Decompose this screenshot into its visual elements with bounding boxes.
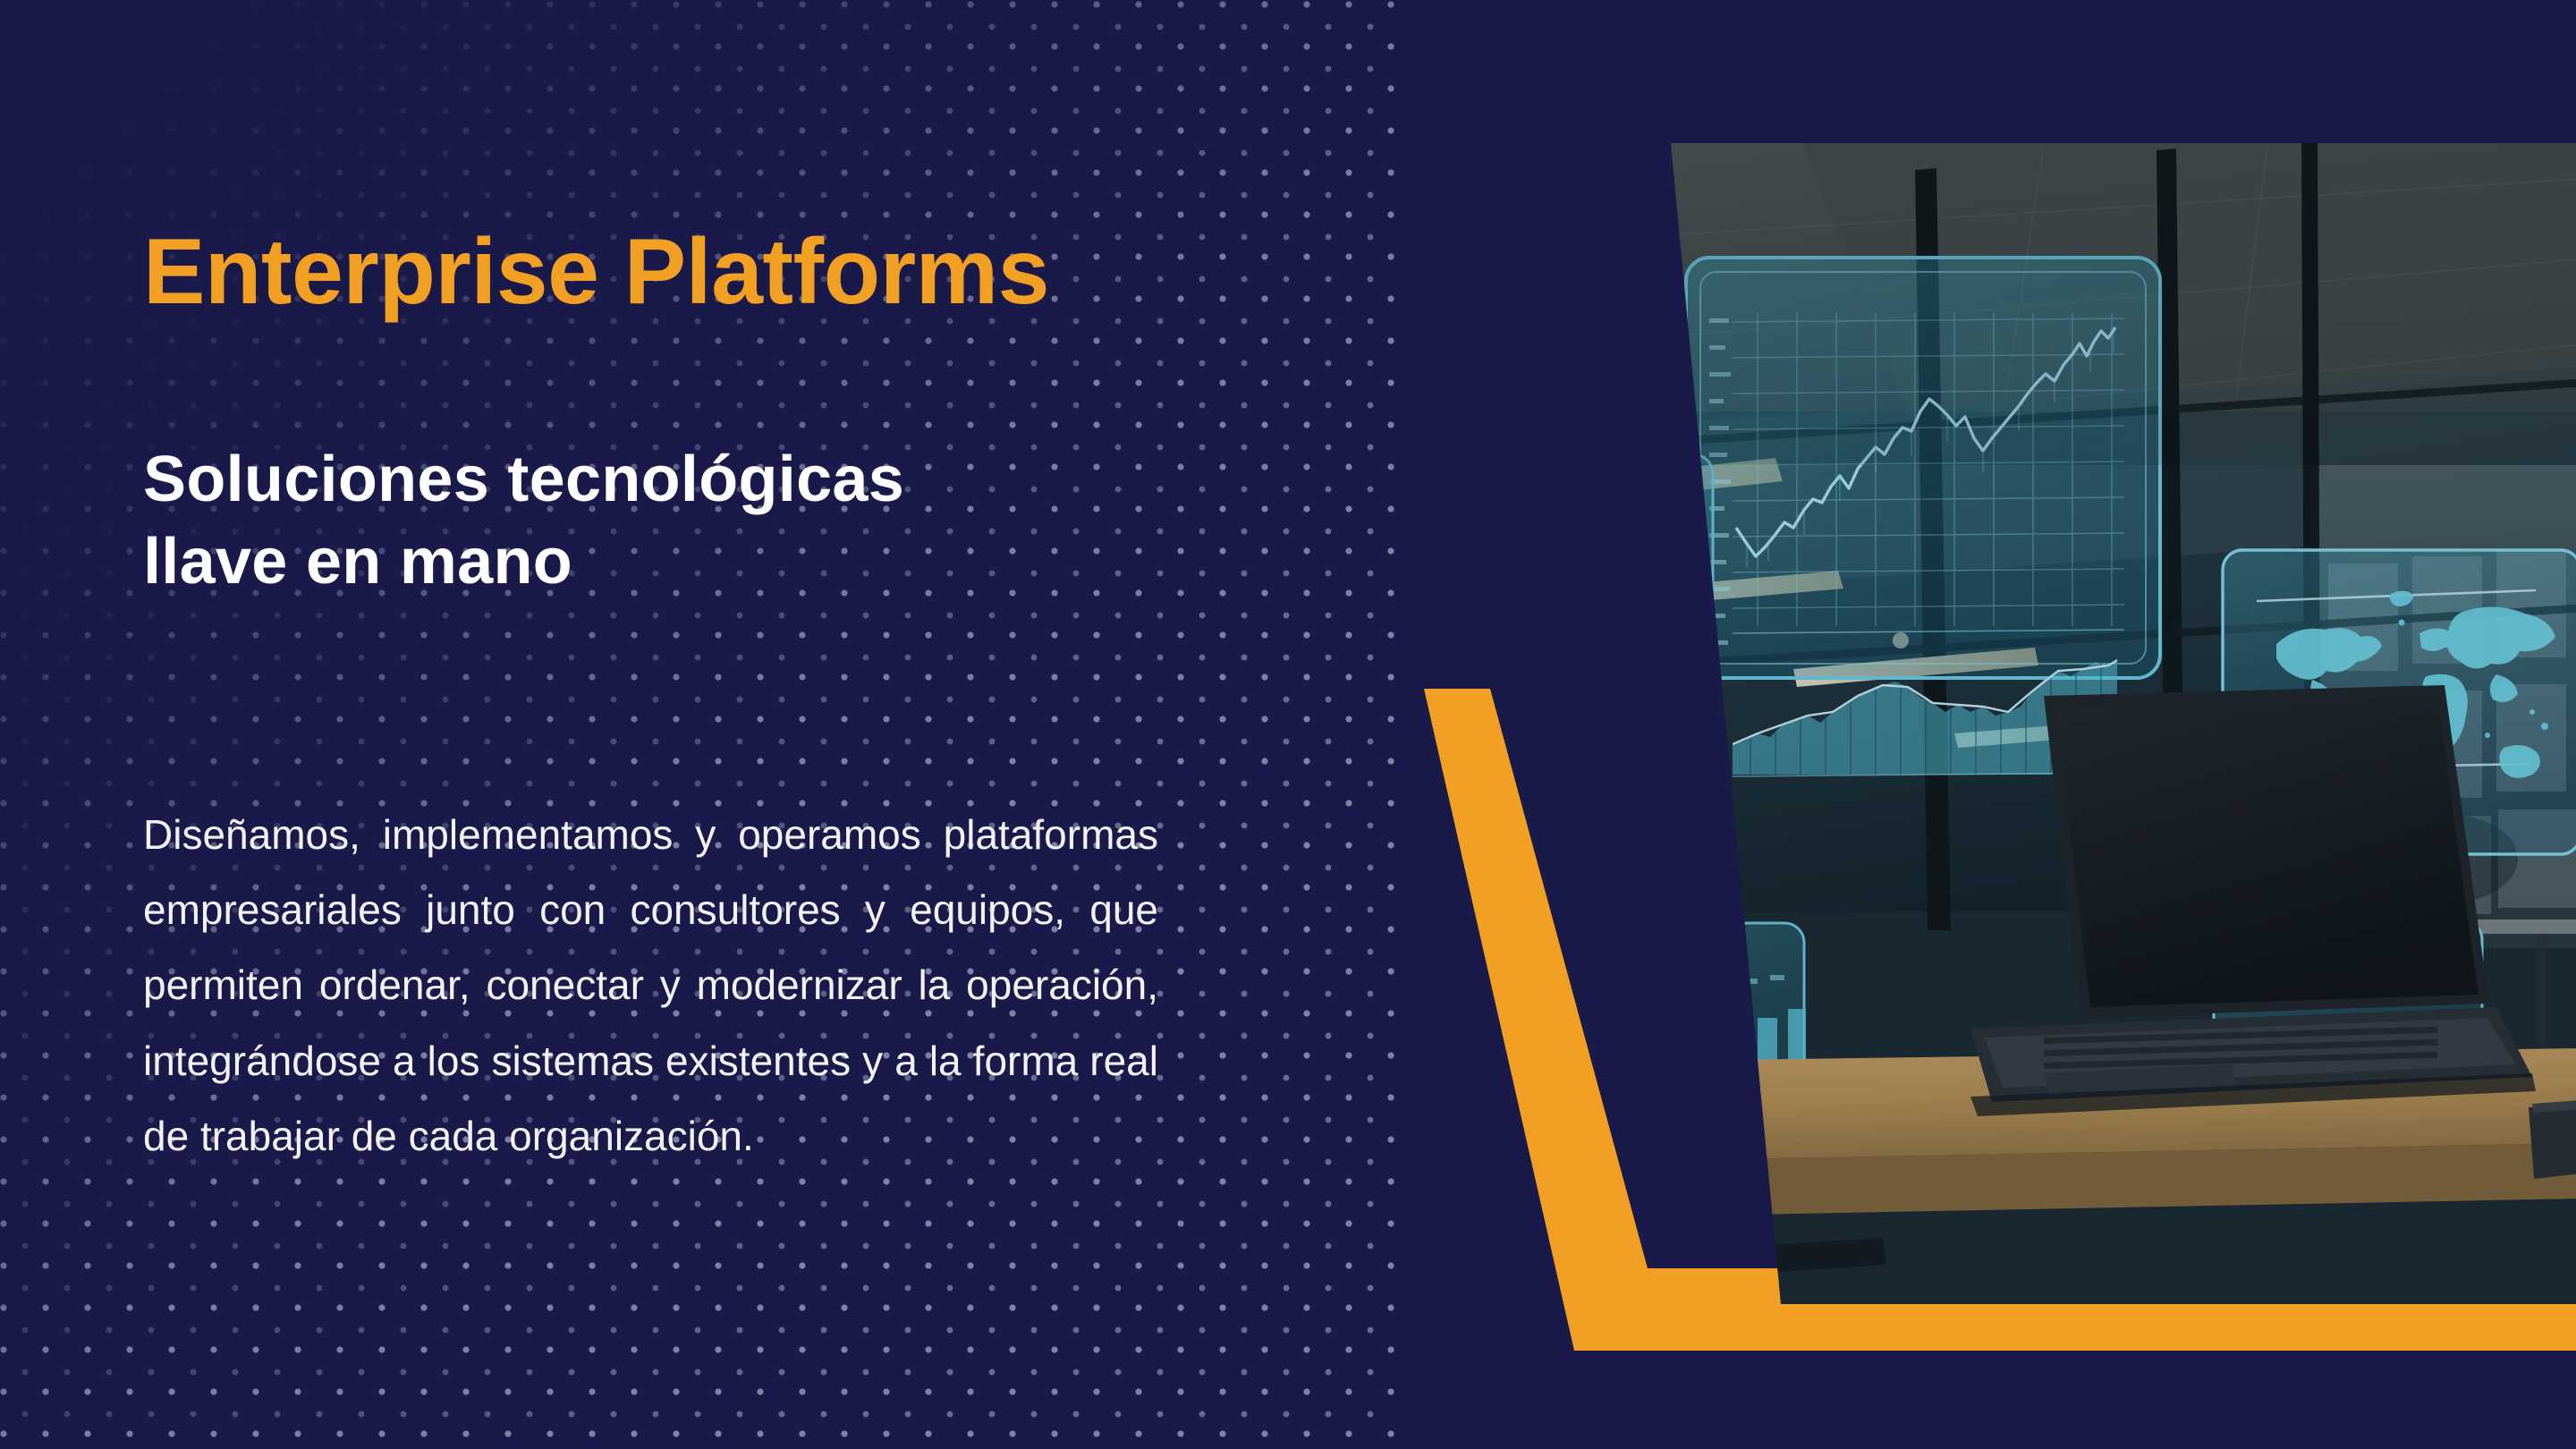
- text-column: Enterprise Platforms Soluciones tecnológ…: [143, 0, 1199, 1449]
- subtitle-line-2: llave en mano: [143, 521, 1127, 603]
- artwork-region: [1413, 0, 2576, 1449]
- subtitle-line-1: Soluciones tecnológicas: [143, 438, 1127, 521]
- page-subtitle: Soluciones tecnológicas llave en mano: [143, 438, 1127, 603]
- body-paragraph: Diseñamos, implementamos y operamos plat…: [143, 797, 1158, 1174]
- slide-root: Enterprise Platforms Soluciones tecnológ…: [0, 0, 2576, 1449]
- page-title: Enterprise Platforms: [143, 224, 1049, 321]
